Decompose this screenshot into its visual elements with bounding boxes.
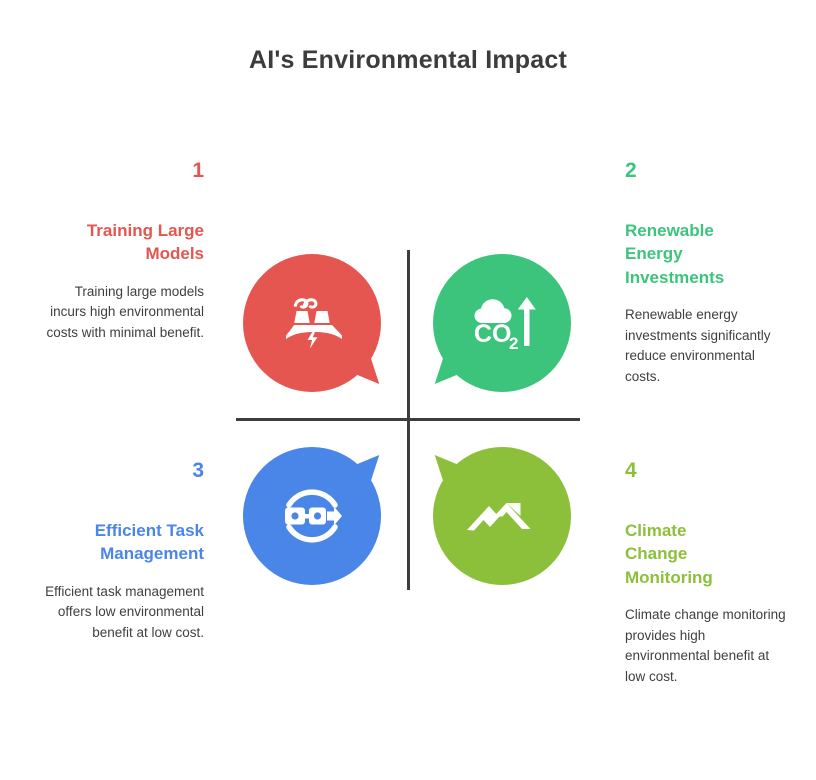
quadrant-heading-1: Training Large Models [38, 219, 204, 266]
quadrant-number-4: 4 [625, 460, 791, 481]
quadrant-text-4: 4 Climate Change Monitoring Climate chan… [625, 460, 791, 687]
power-plant-icon [243, 254, 381, 392]
quadrant-body-3: Efficient task management offers low env… [38, 582, 204, 644]
quadrant-heading-2: Renewable Energy Investments [625, 219, 737, 289]
quadrant-body-1: Training large models incurs high enviro… [38, 282, 204, 344]
quadrant-bubble-1[interactable] [243, 254, 381, 392]
quadrant-text-1: 1 Training Large Models Training large m… [38, 160, 204, 343]
quadrant-number-2: 2 [625, 160, 791, 181]
co2-cloud-arrow-icon: CO 2 [433, 254, 571, 392]
quadrant-heading-4: Climate Change Monitoring [625, 519, 733, 589]
workflow-process-icon [243, 447, 381, 585]
page-title: AI's Environmental Impact [0, 46, 816, 75]
quadrant-bubble-3[interactable] [243, 447, 381, 585]
quadrant-text-3: 3 Efficient Task Management Efficient ta… [38, 460, 204, 643]
quadrant-bubble-4[interactable] [433, 447, 571, 585]
svg-text:CO: CO [474, 320, 512, 348]
quadrant-body-4: Climate change monitoring provides high … [625, 605, 791, 687]
quadrant-number-3: 3 [38, 460, 204, 481]
quadrant-heading-3: Efficient Task Management [38, 519, 204, 566]
svg-text:2: 2 [509, 334, 518, 353]
quadrant-body-2: Renewable energy investments significant… [625, 305, 791, 387]
quadrant-number-1: 1 [38, 160, 204, 181]
vertical-axis-line [407, 250, 410, 590]
quadrant-bubble-2[interactable]: CO 2 [433, 254, 571, 392]
quadrant-text-2: 2 Renewable Energy Investments Renewable… [625, 160, 791, 387]
mountains-icon [433, 447, 571, 585]
